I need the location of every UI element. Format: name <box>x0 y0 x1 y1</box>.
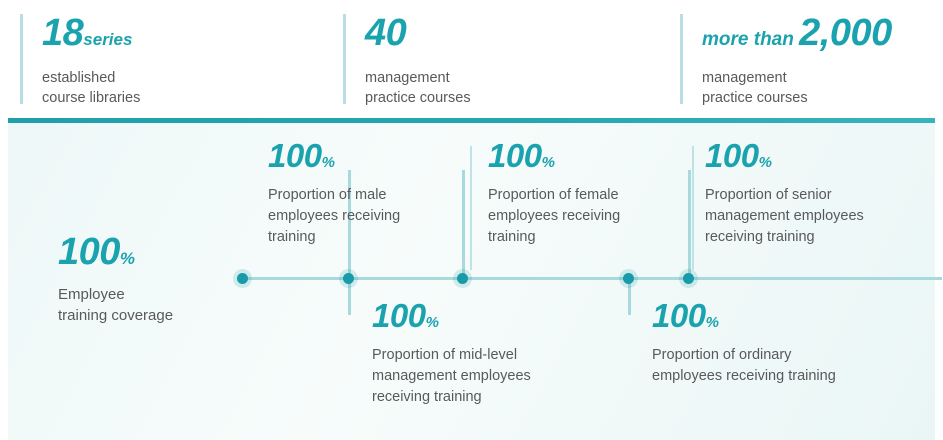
top-stat-description: management practice courses <box>365 68 471 108</box>
timeline-dot-4 <box>683 273 694 284</box>
timeline-stem-ordinary <box>628 279 631 315</box>
hero-stat-value: 100 <box>58 231 120 273</box>
hero-stat-value-group: 100% <box>58 232 173 279</box>
card-label: Proportion of female employees receiving… <box>488 185 680 248</box>
card-value: 100 <box>488 137 542 174</box>
card-unit: % <box>542 154 555 171</box>
card-value-group: 100% <box>488 138 680 181</box>
panel-accent-bar <box>8 118 935 123</box>
card-male-employees: 100% Proportion of male employees receiv… <box>268 138 458 248</box>
card-label: Proportion of male employees receiving t… <box>268 185 458 248</box>
top-stat-value: 18 <box>42 12 83 54</box>
card-mid-level-management: 100% Proportion of mid-level management … <box>372 298 620 408</box>
card-unit: % <box>426 314 439 331</box>
card-divider <box>692 146 694 270</box>
card-unit: % <box>706 314 719 331</box>
timeline-dot-origin <box>237 273 248 284</box>
hero-stat-employee-training-coverage: 100% Employee training coverage <box>58 232 173 326</box>
card-ordinary-employees: 100% Proportion of ordinary employees re… <box>652 298 934 387</box>
timeline-dot-1 <box>343 273 354 284</box>
divider-rule <box>20 14 23 104</box>
timeline-dot-3 <box>623 273 634 284</box>
timeline-stem-female <box>462 170 465 278</box>
top-stat-value-group: 40 <box>365 12 471 61</box>
card-divider <box>470 146 472 270</box>
top-stat-series: 18series established course libraries <box>20 12 140 108</box>
top-stat-prefix: more than <box>702 29 799 50</box>
card-label: Proportion of senior management employee… <box>705 185 933 248</box>
top-stat-value-group: 18series <box>42 12 140 61</box>
card-value: 100 <box>705 137 759 174</box>
card-value-group: 100% <box>372 298 620 341</box>
top-stat-value: 2,000 <box>799 12 892 54</box>
card-senior-management: 100% Proportion of senior management emp… <box>705 138 933 248</box>
top-stat-value-group: more than 2,000 <box>702 12 892 61</box>
timeline-dot-2 <box>457 273 468 284</box>
divider-rule <box>680 14 683 104</box>
timeline-stem-midlevel <box>348 279 351 315</box>
hero-stat-unit: % <box>120 249 135 268</box>
top-stat-management-courses: 40 management practice courses <box>343 12 471 108</box>
card-female-employees: 100% Proportion of female employees rece… <box>488 138 680 248</box>
card-value: 100 <box>268 137 322 174</box>
top-stat-description: established course libraries <box>42 68 140 108</box>
timeline-stem-senior <box>688 170 691 278</box>
top-stat-description: management practice courses <box>702 68 892 108</box>
divider-rule <box>343 14 346 104</box>
top-stat-value: 40 <box>365 12 406 54</box>
card-value-group: 100% <box>268 138 458 181</box>
card-label: Proportion of ordinary employees receivi… <box>652 345 934 387</box>
top-stats-row: 18series established course libraries 40… <box>0 0 943 118</box>
top-stat-unit: series <box>83 30 132 49</box>
top-stat-practice-courses: more than 2,000 management practice cour… <box>680 12 892 108</box>
card-unit: % <box>322 154 335 171</box>
card-value-group: 100% <box>652 298 934 341</box>
card-unit: % <box>759 154 772 171</box>
card-value: 100 <box>372 297 426 334</box>
card-value: 100 <box>652 297 706 334</box>
hero-stat-label: Employee training coverage <box>58 284 173 326</box>
card-label: Proportion of mid-level management emplo… <box>372 345 620 408</box>
card-value-group: 100% <box>705 138 933 181</box>
